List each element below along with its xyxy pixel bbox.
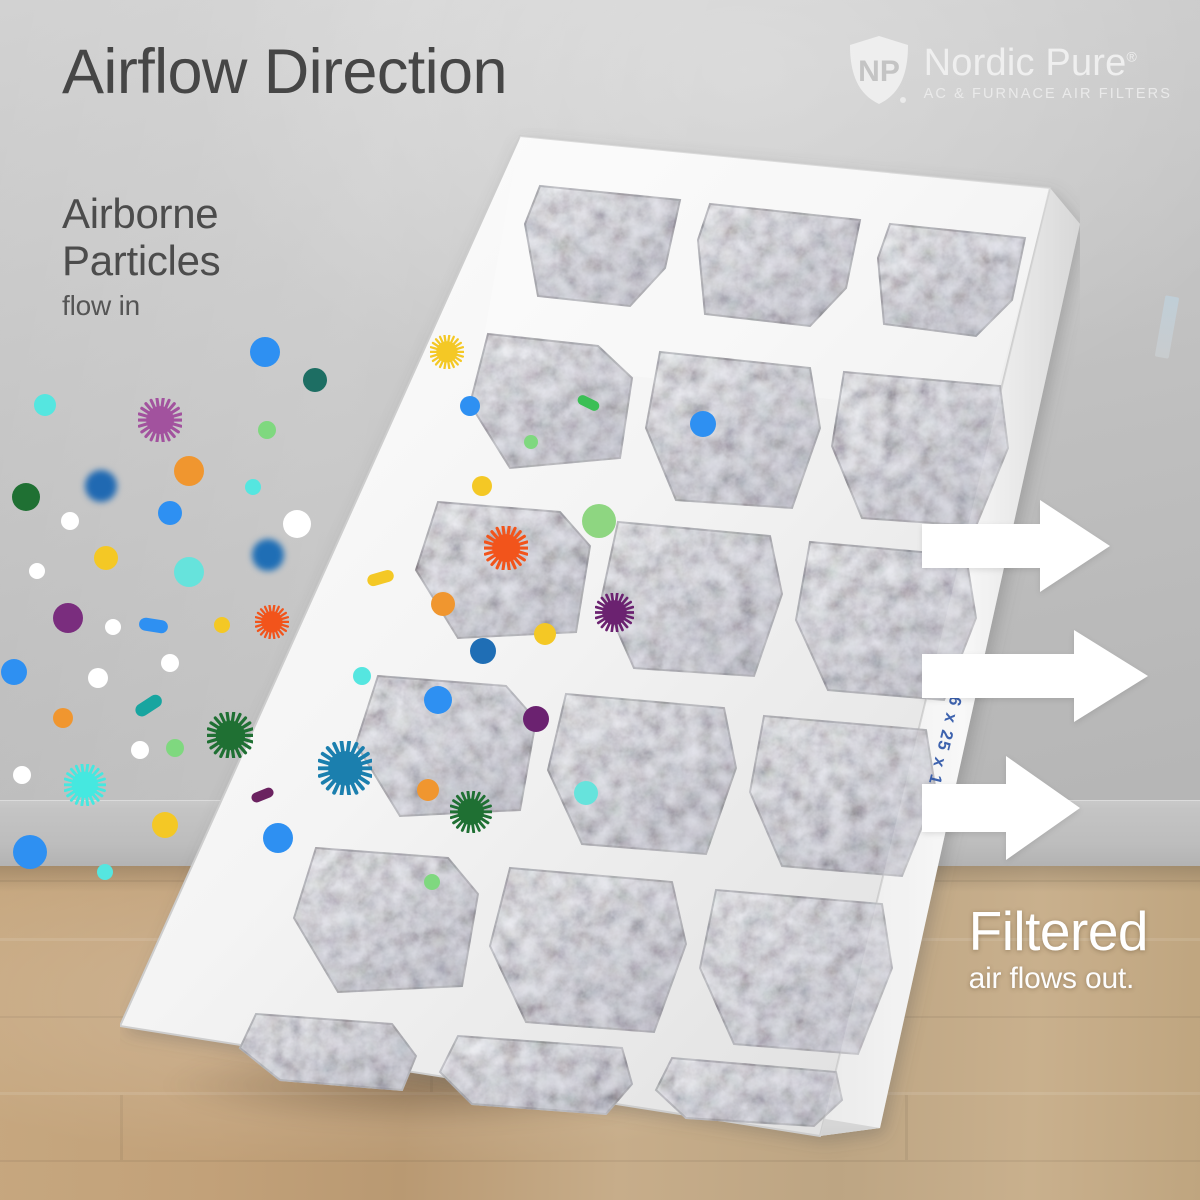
airflow-direction-infographic: Airflow Direction Airborne Particles flo…: [0, 0, 1200, 1200]
particle-dot: [85, 470, 117, 502]
particle-dot: [214, 617, 230, 633]
particle-dot: [152, 812, 178, 838]
particle-dot: [524, 435, 538, 449]
particle-dot: [690, 411, 716, 437]
particle-dot: [470, 638, 496, 664]
particle-dot: [158, 501, 182, 525]
airflow-arrow-1: [922, 498, 1112, 594]
particle-dot: [13, 766, 31, 784]
particle-dot: [263, 823, 293, 853]
particle-dot: [424, 874, 440, 890]
particle-dot: [353, 667, 371, 685]
particle-dot: [105, 619, 121, 635]
particle-dot: [417, 779, 439, 801]
particle-dot: [88, 668, 108, 688]
particle-dot: [34, 394, 56, 416]
particle-germ: [138, 398, 182, 442]
particle-dot: [61, 512, 79, 530]
particle-dot: [13, 835, 47, 869]
particle-dot: [424, 686, 452, 714]
particle-germ: [207, 712, 254, 759]
particle-dot: [250, 337, 280, 367]
particle-germ: [450, 791, 492, 833]
particle-dot: [252, 539, 284, 571]
svg-text:NP: NP: [858, 55, 900, 88]
particle-dot: [166, 739, 184, 757]
particle-germ: [255, 605, 289, 639]
airflow-arrow-2: [922, 626, 1152, 726]
particle-germ: [430, 335, 464, 369]
particle-dot: [574, 781, 598, 805]
particle-dot: [174, 456, 204, 486]
particle-dot: [161, 654, 179, 672]
particle-germ: [318, 741, 373, 796]
particle-dot: [174, 557, 204, 587]
particle-dot: [582, 504, 616, 538]
particle-germ: [595, 593, 634, 632]
particle-dot: [460, 396, 480, 416]
particle-dot: [131, 741, 149, 759]
particle-dot: [283, 510, 311, 538]
particle-dot: [53, 603, 83, 633]
particle-dot: [1, 659, 27, 685]
page-title: Airflow Direction: [62, 36, 507, 108]
particle-dot: [245, 479, 261, 495]
brand-name: Nordic Pure®: [924, 44, 1172, 82]
nordic-pure-logo: NP Nordic Pure® AC & FURNACE AIR FILTERS: [846, 34, 1172, 111]
particle-germ: [64, 764, 106, 806]
particle-dot: [534, 623, 556, 645]
particle-dot: [303, 368, 327, 392]
shield-icon: NP: [846, 34, 912, 111]
registered-mark: ®: [1127, 48, 1138, 64]
particle-dot: [431, 592, 455, 616]
particle-dot: [53, 708, 73, 728]
particle-dot: [94, 546, 118, 570]
particle-dot: [472, 476, 492, 496]
particle-germ: [484, 526, 528, 570]
particle-dot: [258, 421, 276, 439]
particle-dot: [29, 563, 45, 579]
particle-dot: [523, 706, 549, 732]
brand-tagline: AC & FURNACE AIR FILTERS: [924, 87, 1172, 102]
airflow-arrow-3: [922, 752, 1082, 864]
particle-dot: [97, 864, 113, 880]
particle-dot: [12, 483, 40, 511]
